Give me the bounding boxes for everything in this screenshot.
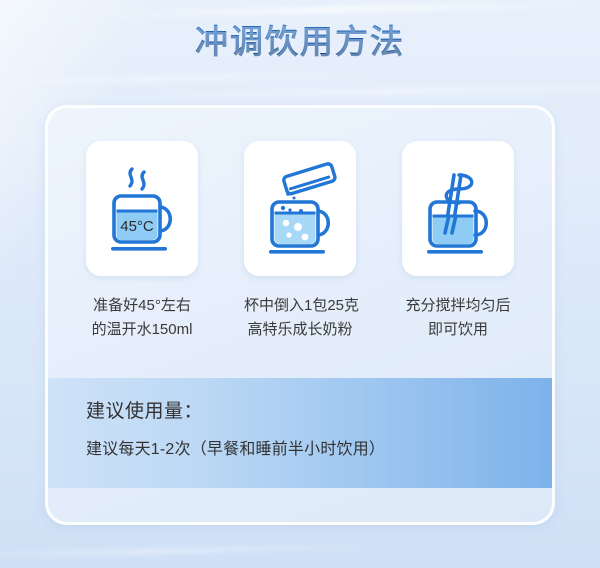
step-item-2: 杯中倒入1包25克 高特乐成长奶粉 <box>244 141 356 342</box>
dosage-panel: 建议使用量： 建议每天1-2次（早餐和睡前半小时饮用） <box>48 378 552 488</box>
background-light-streak <box>150 83 600 98</box>
step-1-icon-label: 45°C <box>120 218 154 235</box>
dosage-text: 建议每天1-2次（早餐和睡前半小时饮用） <box>86 438 552 462</box>
step-2-caption-line2: 高特乐成长奶粉 <box>244 318 356 342</box>
step-item-3: 充分搅拌均匀后 即可饮用 <box>402 141 514 342</box>
step-2-caption-line1: 杯中倒入1包25克 <box>244 297 359 314</box>
step-2-icon-tile <box>244 141 356 276</box>
step-1-caption: 准备好45°左右 的温开水150ml <box>86 294 198 342</box>
steps-row: 45°C 准备好45°左右 的温开水150ml <box>48 141 552 342</box>
step-3-caption: 充分搅拌均匀后 即可饮用 <box>402 294 514 342</box>
sachet-pour-cup-icon <box>257 161 343 257</box>
background-light-streak <box>90 1 600 19</box>
step-1-caption-line2: 的温开水150ml <box>86 318 198 342</box>
hot-cup-45c-icon: 45°C <box>99 161 185 257</box>
step-2-caption: 杯中倒入1包25克 高特乐成长奶粉 <box>244 294 356 342</box>
step-3-caption-line1: 充分搅拌均匀后 <box>405 297 510 314</box>
step-1-caption-line1: 准备好45°左右 <box>93 297 191 314</box>
step-item-1: 45°C 准备好45°左右 的温开水150ml <box>86 141 198 342</box>
step-1-icon-tile: 45°C <box>86 141 198 276</box>
page-title: 冲调饮用方法 <box>0 22 600 62</box>
step-3-caption-line2: 即可饮用 <box>402 318 514 342</box>
background-light-streak <box>0 543 400 559</box>
step-3-icon-tile <box>402 141 514 276</box>
dosage-title: 建议使用量： <box>86 398 552 426</box>
promo-page: 冲调饮用方法 <box>0 0 600 568</box>
stir-cup-icon <box>415 161 501 257</box>
instructions-card: 45°C 准备好45°左右 的温开水150ml <box>45 105 555 525</box>
background-light-streak <box>0 71 380 86</box>
